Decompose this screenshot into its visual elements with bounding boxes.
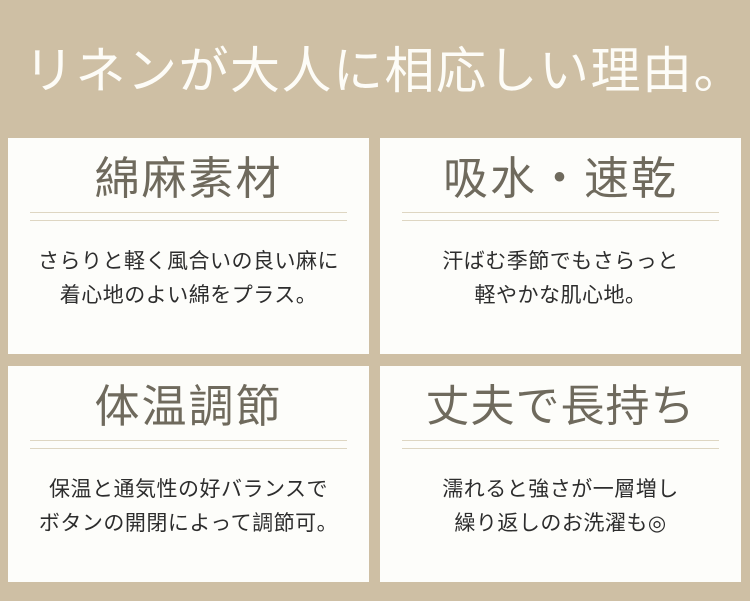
- title-divider: [30, 212, 347, 221]
- benefit-card-body-line-2: ボタンの開閉によって調節可。: [39, 507, 338, 541]
- benefit-card-cotton-linen-material: 綿麻素材 さらりと軽く風合いの良い麻に 着心地のよい綿をプラス。: [8, 138, 369, 354]
- benefit-card-body: 汗ばむ季節でもさらっと 軽やかな肌心地。: [400, 221, 721, 346]
- benefit-card-title: 丈夫で長持ち: [400, 376, 721, 438]
- benefit-card-body-line-1: 保温と通気性の好バランスで: [49, 473, 328, 507]
- linen-benefits-poster: リネンが大人に相応しい理由。 綿麻素材 さらりと軽く風合いの良い麻に 着心地のよ…: [0, 0, 750, 601]
- page-headline: リネンが大人に相応しい理由。: [24, 38, 730, 104]
- benefit-card-body: 保温と通気性の好バランスで ボタンの開閉によって調節可。: [28, 449, 349, 574]
- benefit-card-title: 体温調節: [28, 376, 349, 438]
- benefit-card-title: 吸水・速乾: [400, 148, 721, 210]
- benefit-card-grid: 綿麻素材 さらりと軽く風合いの良い麻に 着心地のよい綿をプラス。 吸水・速乾 汗…: [8, 138, 741, 582]
- title-divider: [402, 212, 719, 221]
- benefit-card-body: 濡れると強さが一層増し 繰り返しのお洗濯も◎: [400, 449, 721, 574]
- benefit-card-body-line-1: 濡れると強さが一層増し: [442, 473, 679, 507]
- benefit-card-body-line-1: 汗ばむ季節でもさらっと: [442, 245, 679, 279]
- benefit-card-body-line-1: さらりと軽く風合いの良い麻に: [38, 245, 339, 279]
- benefit-card-title: 綿麻素材: [28, 148, 349, 210]
- title-divider: [402, 440, 719, 449]
- benefit-card-body-line-2: 繰り返しのお洗濯も◎: [454, 507, 666, 541]
- benefit-card-body: さらりと軽く風合いの良い麻に 着心地のよい綿をプラス。: [28, 221, 349, 346]
- benefit-card-temperature-regulation: 体温調節 保温と通気性の好バランスで ボタンの開閉によって調節可。: [8, 366, 369, 582]
- benefit-card-durable-long-lasting: 丈夫で長持ち 濡れると強さが一層増し 繰り返しのお洗濯も◎: [380, 366, 741, 582]
- benefit-card-absorbent-quick-dry: 吸水・速乾 汗ばむ季節でもさらっと 軽やかな肌心地。: [380, 138, 741, 354]
- benefit-card-body-line-2: 軽やかな肌心地。: [475, 279, 647, 313]
- title-divider: [30, 440, 347, 449]
- benefit-card-body-line-2: 着心地のよい綿をプラス。: [60, 279, 318, 313]
